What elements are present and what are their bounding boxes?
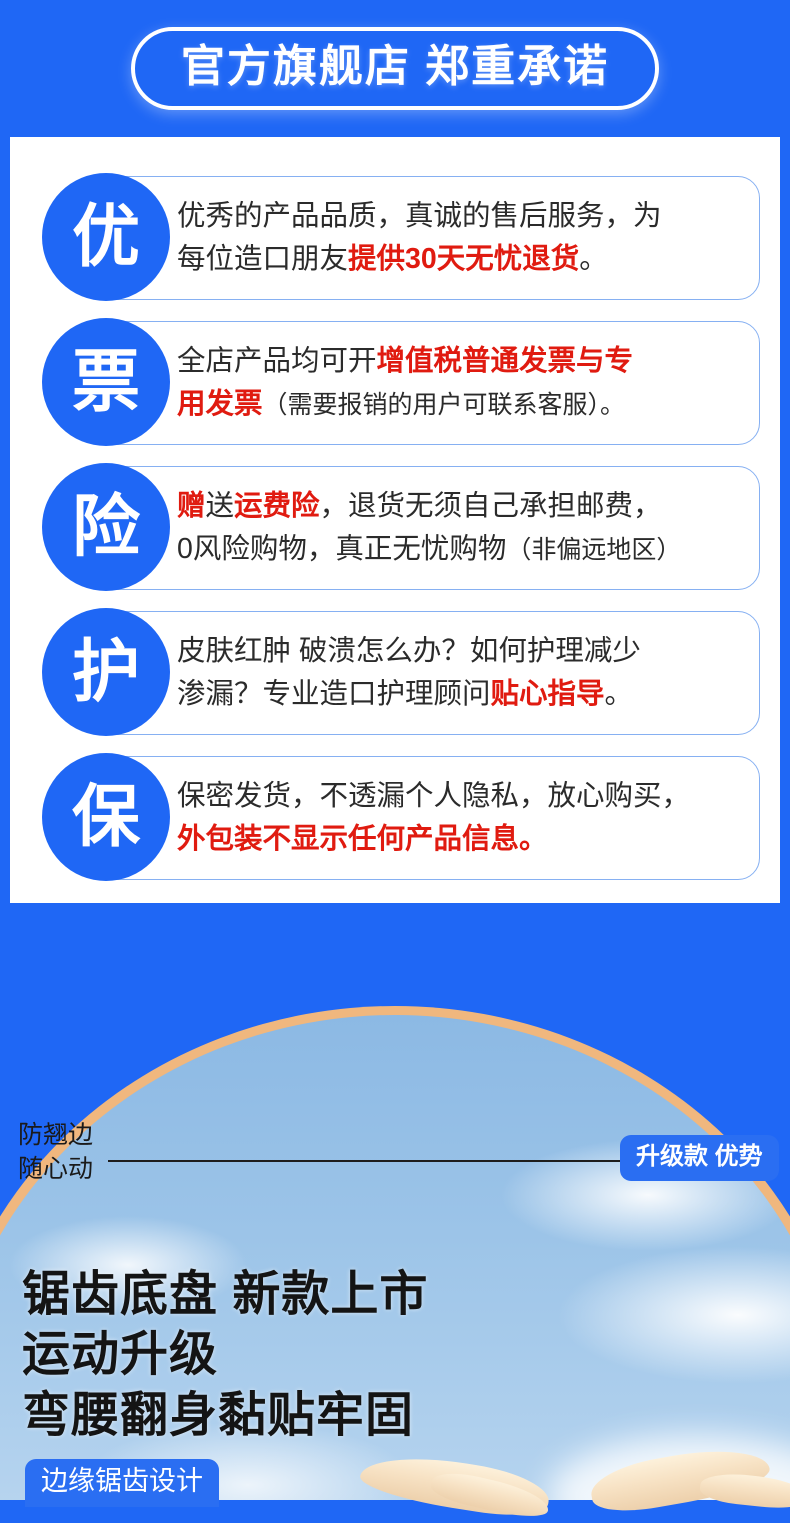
promise-card: 保密发货，不透漏个人隐私，放心购买， 外包装不显示任何产品信息。 <box>92 756 760 880</box>
promise-badge-bao: 保 <box>42 753 170 881</box>
promise-line-2: 每位造口朋友 <box>177 243 348 275</box>
promise-badge-hu: 护 <box>42 608 170 736</box>
upgrade-advantage-badge: 升级款 优势 <box>620 1135 779 1181</box>
page-title: 官方旗舰店 郑重承诺 <box>181 39 609 94</box>
promise-tail: 。 <box>579 243 608 275</box>
promise-highlight: 贴心指导 <box>491 678 605 710</box>
promise-card: 优秀的产品品质，真诚的售后服务，为 每位造口朋友提供30天无忧退货。 <box>92 176 760 300</box>
promise-line-2: 渗漏？专业造口护理顾问 <box>177 678 491 710</box>
promise-row: 全店产品均可开增值税普通发票与专 用发票（需要报销的用户可联系客服）。 票 <box>30 318 760 448</box>
promise-text: 全店产品均可开增值税普通发票与专 用发票（需要报销的用户可联系客服）。 <box>177 340 633 427</box>
promise-card: 皮肤红肿 破溃怎么办？如何护理减少 渗漏？专业造口护理顾问贴心指导。 <box>92 611 760 735</box>
promise-text: 皮肤红肿 破溃怎么办？如何护理减少 渗漏？专业造口护理顾问贴心指导。 <box>177 630 641 717</box>
anti-curl-line-2: 随心动 <box>18 1155 93 1183</box>
anti-curl-label: 防翘边 随心动 <box>18 1119 93 1187</box>
promise-text: 保密发货，不透漏个人隐私，放心购买， 外包装不显示任何产品信息。 <box>177 775 690 862</box>
promise-line-1a: 送 <box>206 490 235 522</box>
promise-line-1: 保密发货，不透漏个人隐私，放心购买， <box>177 780 690 812</box>
promise-card: 赠送运费险，退货无须自己承担邮费， 0风险购物，真正无忧购物（非偏远地区） <box>92 466 760 590</box>
promise-highlight-2: 运费险 <box>234 490 320 522</box>
promise-card: 全店产品均可开增值税普通发票与专 用发票（需要报销的用户可联系客服）。 <box>92 321 760 445</box>
promise-badge-you: 优 <box>42 173 170 301</box>
promise-line-2: 0风险购物，真正无忧购物 <box>177 533 506 565</box>
promise-line-1: 全店产品均可开 <box>177 345 377 377</box>
promise-line-1: 皮肤红肿 破溃怎么办？如何护理减少 <box>177 635 641 667</box>
promise-highlight: 外包装不显示任何产品信息。 <box>177 823 548 855</box>
headline-line-2: 运动升级 <box>22 1325 428 1385</box>
promise-text: 优秀的产品品质，真诚的售后服务，为 每位造口朋友提供30天无忧退货。 <box>177 195 662 282</box>
promise-line-1b: ，退货无须自己承担邮费， <box>320 490 662 522</box>
promise-tail: （需要报销的用户可联系客服）。 <box>263 391 626 419</box>
promise-text: 赠送运费险，退货无须自己承担邮费， 0风险购物，真正无忧购物（非偏远地区） <box>177 485 681 572</box>
promise-tail: 。 <box>605 678 634 710</box>
divider-line <box>108 1160 620 1162</box>
promise-panel: 优秀的产品品质，真诚的售后服务，为 每位造口朋友提供30天无忧退货。 优 全店产… <box>10 137 780 903</box>
promise-line-1: 优秀的产品品质，真诚的售后服务，为 <box>177 200 662 232</box>
product-headline: 锯齿底盘 新款上市 运动升级 弯腰翻身黏贴牢固 <box>22 1265 428 1446</box>
headline-line-1: 锯齿底盘 新款上市 <box>22 1265 428 1325</box>
promise-row: 皮肤红肿 破溃怎么办？如何护理减少 渗漏？专业造口护理顾问贴心指导。 护 <box>30 608 760 738</box>
header-pill: 官方旗舰店 郑重承诺 <box>131 27 659 110</box>
upgrade-label-row: 防翘边 随心动 升级款 优势 <box>0 1119 790 1199</box>
headline-line-3: 弯腰翻身黏贴牢固 <box>22 1386 428 1446</box>
promise-row: 赠送运费险，退货无须自己承担邮费， 0风险购物，真正无忧购物（非偏远地区） 险 <box>30 463 760 593</box>
promise-badge-piao: 票 <box>42 318 170 446</box>
anti-curl-line-1: 防翘边 <box>18 1121 93 1149</box>
promise-highlight-2: 用发票 <box>177 388 263 420</box>
promise-highlight: 增值税普通发票与专 <box>377 345 634 377</box>
promise-list: 优秀的产品品质，真诚的售后服务，为 每位造口朋友提供30天无忧退货。 优 全店产… <box>30 173 760 883</box>
promise-row: 保密发货，不透漏个人隐私，放心购买， 外包装不显示任何产品信息。 保 <box>30 753 760 883</box>
promise-row: 优秀的产品品质，真诚的售后服务，为 每位造口朋友提供30天无忧退货。 优 <box>30 173 760 303</box>
promise-highlight: 赠 <box>177 490 206 522</box>
header-banner: 官方旗舰店 郑重承诺 <box>0 0 790 137</box>
promise-tail: （非偏远地区） <box>506 536 681 564</box>
promise-badge-xian: 险 <box>42 463 170 591</box>
promise-highlight: 提供30天无忧退货 <box>348 243 579 275</box>
